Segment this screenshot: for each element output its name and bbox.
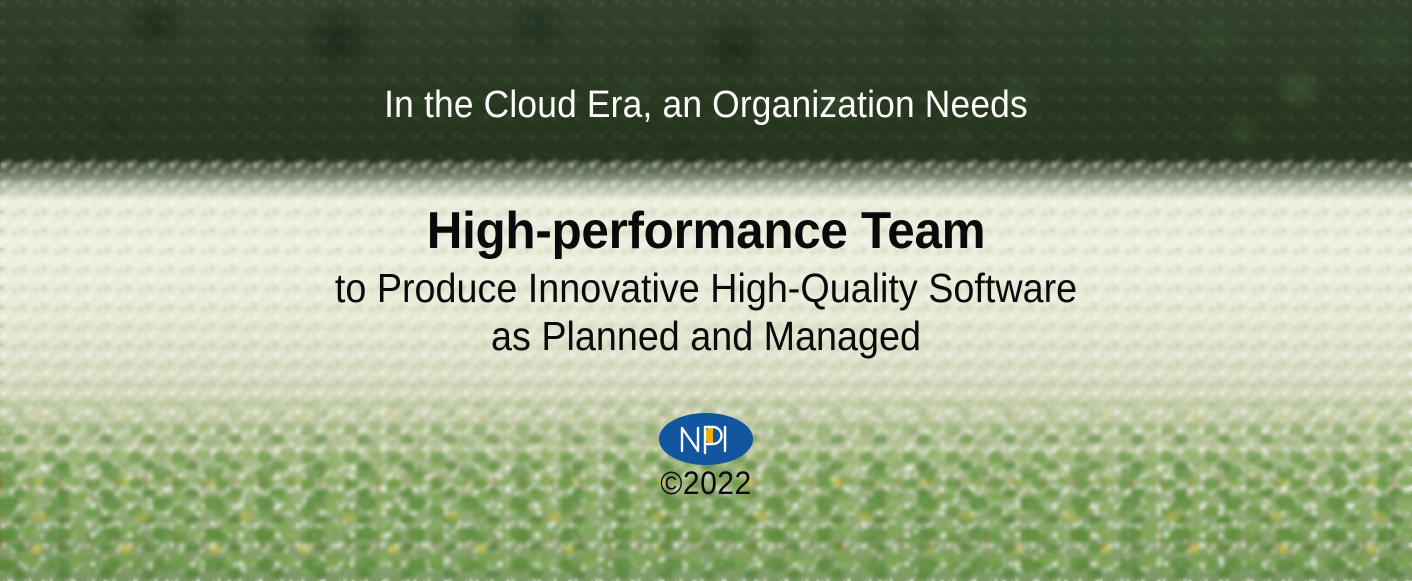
npi-logo-icon: [659, 413, 753, 465]
banner-content: In the Cloud Era, an Organization Needs …: [0, 0, 1412, 581]
subtitle-line-1: to Produce Innovative High-Quality Softw…: [56, 268, 1355, 309]
kicker-text: In the Cloud Era, an Organization Needs: [49, 86, 1362, 124]
npi-logo: [659, 413, 753, 465]
subtitle-line-2: as Planned and Managed: [56, 316, 1355, 357]
copyright-text: ©2022: [42, 467, 1369, 499]
title-banner: In the Cloud Era, an Organization Needs …: [0, 0, 1412, 581]
page-title: High-performance Team: [35, 205, 1376, 257]
